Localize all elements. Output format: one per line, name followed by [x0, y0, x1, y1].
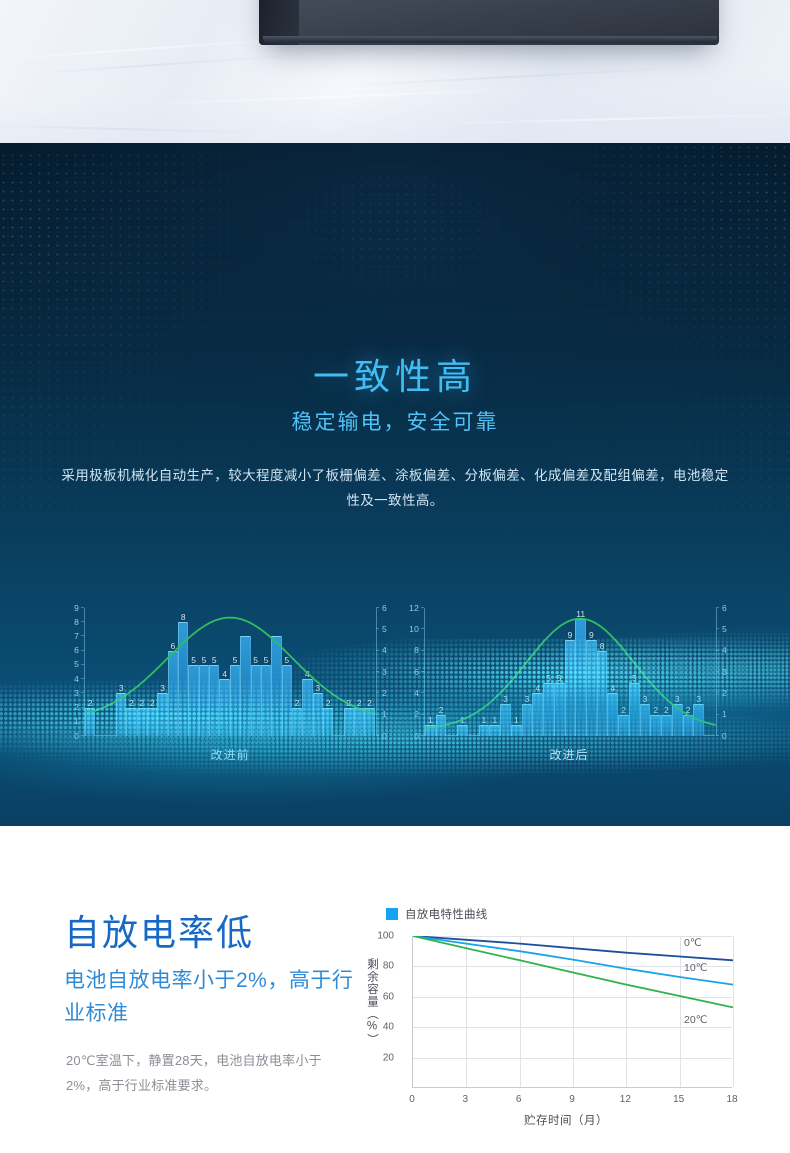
chart-plot-area	[412, 936, 732, 1088]
product-detail-page: 警告: 禁止拆解电池或加热到60℃以上或焚烧 生产者有权免责声明 一致性高 稳定…	[0, 0, 790, 1153]
y-axis-tick-label: 100	[377, 931, 394, 942]
grid-line-vertical	[733, 936, 734, 1087]
self-discharge-title: 自放电率低	[64, 904, 254, 956]
particle-wave-decoration	[0, 616, 790, 826]
series-end-label: 20℃	[684, 1014, 707, 1026]
section-subheadline: 稳定输电，安全可靠	[0, 406, 790, 436]
self-discharge-chart: 自放电特性曲线 剩余容量（%） 贮存时间（月） 2040608010003691…	[366, 898, 766, 1148]
x-axis-tick-label: 12	[620, 1094, 631, 1105]
legend-swatch-icon	[386, 908, 398, 920]
self-discharge-subtitle: 电池自放电率小于2%，高于行业标准	[64, 964, 354, 1030]
chart-legend: 自放电特性曲线	[386, 906, 488, 922]
x-axis-tick-label: 3	[463, 1094, 469, 1105]
y-axis-tick-label: 60	[383, 991, 394, 1002]
discharge-series-lines	[413, 936, 733, 1088]
self-discharge-body: 20℃室温下，静置28天，电池自放电率小于2%，高于行业标准要求。	[66, 1048, 338, 1098]
self-discharge-section: 自放电率低 电池自放电率小于2%，高于行业标准 20℃室温下，静置28天，电池自…	[0, 826, 790, 1153]
y-axis-tick-label: 80	[383, 961, 394, 972]
y-axis-tick-label: 20	[383, 1052, 394, 1063]
product-photo-band: 警告: 禁止拆解电池或加热到60℃以上或焚烧 生产者有权免责声明	[0, 0, 790, 143]
legend-label: 自放电特性曲线	[405, 906, 488, 922]
x-axis-tick-label: 15	[673, 1094, 684, 1105]
x-axis-tick-label: 0	[409, 1094, 415, 1105]
section-headline: 一致性高	[0, 348, 790, 400]
section-description: 采用极板机械化自动生产，较大程度减小了板栅偏差、涂板偏差、分板偏差、化成偏差及配…	[55, 463, 735, 513]
y-axis-label: 剩余容量（%）	[364, 958, 380, 1046]
dot-matrix-decoration	[240, 163, 560, 323]
battery-product-image: 警告: 禁止拆解电池或加热到60℃以上或焚烧 生产者有权免责声明	[259, 0, 719, 45]
x-axis-tick-label: 9	[569, 1094, 575, 1105]
battery-bottom-edge	[263, 36, 717, 43]
y-axis-tick-label: 40	[383, 1022, 394, 1033]
x-axis-tick-label: 6	[516, 1094, 522, 1105]
x-axis-tick-label: 18	[726, 1094, 737, 1105]
series-end-label: 10℃	[684, 962, 707, 974]
series-end-label: 0℃	[684, 937, 702, 949]
wave-band	[0, 624, 790, 734]
consistency-feature-section: 一致性高 稳定输电，安全可靠 采用极板机械化自动生产，较大程度减小了板栅偏差、涂…	[0, 143, 790, 826]
x-axis-label: 贮存时间（月）	[366, 1112, 766, 1128]
